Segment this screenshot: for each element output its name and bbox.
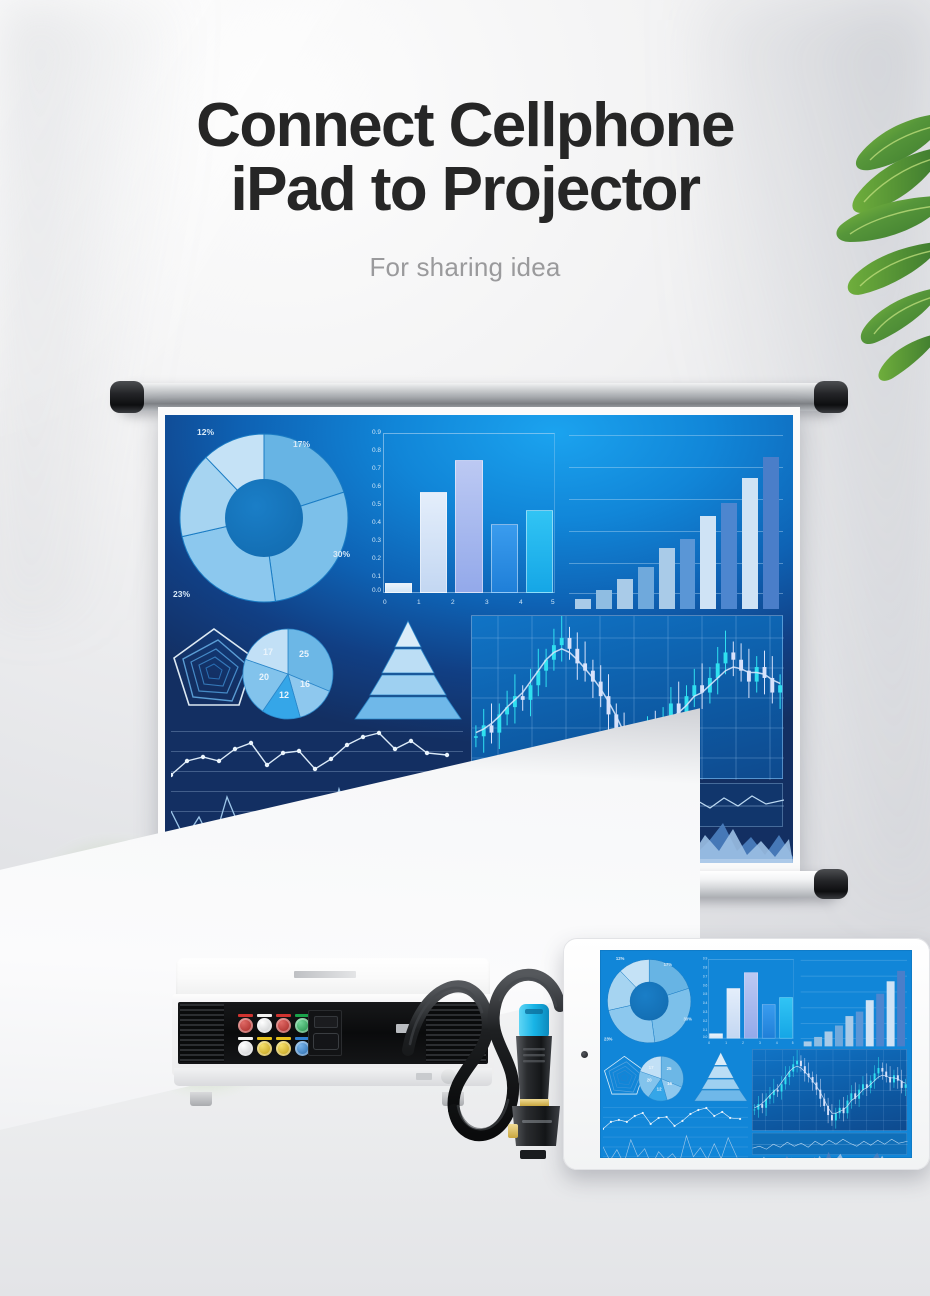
tablet-dashboard-content: 12% 17% 30% 23% 0.9 0.8 0.7 0.6 0.5 0.4 … (600, 950, 912, 1158)
pie-label-17: 17 (263, 647, 273, 657)
bar-ytick-8: 0.8 (361, 447, 381, 454)
rca-port-video[interactable] (238, 1037, 253, 1056)
bar-xtick-0: 0 (708, 1041, 710, 1044)
rca-port-group[interactable] (238, 1014, 310, 1056)
pie-label-20: 20 (259, 672, 269, 682)
rail-end-cap-right (814, 381, 848, 413)
asc-bar-1 (814, 1037, 822, 1047)
bar-ytick-8: 0.8 (697, 966, 707, 969)
donut-label-0: 12% (616, 956, 624, 961)
rca-port-l[interactable] (257, 1014, 272, 1033)
bar-xtick-5: 5 (792, 1041, 794, 1044)
donut-label-1: 17% (664, 962, 672, 967)
asc-bar-3 (638, 567, 654, 609)
donut-label-3: 23% (604, 1036, 612, 1041)
rca-port-audio-l[interactable] (257, 1037, 272, 1056)
bar-xtick-2: 2 (742, 1041, 744, 1044)
power-switch[interactable] (314, 1016, 338, 1028)
bar-ytick-5: 0.5 (361, 501, 381, 508)
projector-foot-left (190, 1092, 212, 1106)
small-pie-chart: 25 16 12 20 17 (241, 627, 335, 721)
rca-port-audio-r[interactable] (276, 1037, 291, 1056)
asc-bar-8 (742, 478, 758, 609)
bar-3 (762, 1004, 776, 1038)
rca-port-r[interactable] (276, 1014, 291, 1033)
donut-label-2: 30% (683, 1017, 691, 1022)
asc-bar-9 (763, 457, 779, 609)
scene: Connect Cellphone iPad to Projector For … (0, 0, 930, 1296)
bar-ytick-7: 0.7 (697, 975, 707, 978)
bar-1 (727, 988, 741, 1038)
rca-port-pr[interactable] (238, 1014, 253, 1033)
bar-0 (385, 583, 412, 593)
bar-xtick-2: 2 (451, 599, 455, 606)
asc-bar-4 (659, 548, 675, 609)
mountain-area-chart (752, 1147, 912, 1158)
donut-hole (225, 479, 303, 557)
front-camera-icon (581, 1051, 588, 1058)
ascending-bar-chart (801, 959, 907, 1046)
pyramid-chart (692, 1051, 749, 1103)
asc-bar-2 (617, 579, 633, 609)
bar-ytick-7: 0.7 (361, 465, 381, 472)
pie-label-20: 20 (647, 1078, 652, 1083)
bar-xtick-1: 1 (725, 1041, 727, 1044)
bottom-rail-end-cap-right (814, 869, 848, 899)
donut-label-0: 12% (197, 427, 214, 437)
bar-3 (491, 524, 518, 593)
bar-xtick-5: 5 (551, 599, 555, 606)
asc-bars (804, 967, 905, 1046)
bar-4 (526, 510, 553, 593)
vent-left (180, 1004, 224, 1062)
pie-label-17: 17 (649, 1065, 654, 1070)
bar-ytick-3: 0.3 (697, 1011, 707, 1014)
marker-line-points (171, 731, 449, 777)
bar-ytick-3: 0.3 (361, 537, 381, 544)
asc-bar-5 (680, 539, 696, 609)
bar-2 (455, 460, 482, 593)
donut-hole (630, 982, 669, 1021)
bar-ytick-1: 0.1 (697, 1028, 707, 1031)
projector-brand-logo (294, 971, 356, 978)
pie-label-25: 25 (667, 1066, 672, 1071)
bar-ytick-6: 0.6 (697, 984, 707, 987)
bar-ytick-2: 0.2 (361, 555, 381, 562)
asc-bar-4 (845, 1016, 853, 1046)
tablet-device[interactable]: 12% 17% 30% 23% 0.9 0.8 0.7 0.6 0.5 0.4 … (563, 938, 930, 1170)
small-pie-chart: 25 16 12 20 17 (638, 1055, 685, 1102)
bar-xtick-4: 4 (776, 1041, 778, 1044)
bar-ytick-4: 0.4 (697, 1002, 707, 1005)
asc-bar-7 (876, 994, 884, 1046)
bar-ytick-9: 0.9 (361, 429, 381, 436)
hdmi-connector-plug (506, 1000, 568, 1160)
donut-label-1: 17% (293, 439, 310, 449)
bar-xtick-3: 3 (485, 599, 489, 606)
rail-end-cap-left (110, 381, 144, 413)
marker-line-path (603, 1108, 740, 1129)
marker-line-points (603, 1107, 741, 1130)
asc-bar-5 (856, 1011, 864, 1046)
donut-chart: 12% 17% 30% 23% (605, 957, 693, 1045)
bar-chart-bars (709, 959, 792, 1038)
bar-xtick-4: 4 (519, 599, 523, 606)
pie-label-12: 12 (279, 690, 289, 700)
donut-chart: 12% 17% 30% 23% (175, 429, 353, 607)
asc-bar-2 (824, 1031, 832, 1046)
pie-label-16: 16 (300, 679, 310, 689)
bar-chart-bars (385, 433, 553, 593)
asc-bar-3 (835, 1026, 843, 1047)
bar-1 (420, 492, 447, 593)
asc-bar-7 (721, 503, 737, 609)
bar-ytick-2: 0.2 (697, 1020, 707, 1023)
bar-xtick-1: 1 (417, 599, 421, 606)
tablet-screen[interactable]: 12% 17% 30% 23% 0.9 0.8 0.7 0.6 0.5 0.4 … (600, 950, 912, 1158)
pie-label-12: 12 (657, 1087, 662, 1092)
bar-xtick-0: 0 (383, 599, 387, 606)
asc-bar-0 (575, 599, 591, 609)
bar-ytick-4: 0.4 (361, 519, 381, 526)
headline-line-1: Connect Cellphone (196, 91, 734, 160)
power-inlet-group[interactable] (308, 1010, 342, 1056)
main-bar-chart: 0.9 0.8 0.7 0.6 0.5 0.4 0.3 0.2 0.1 0.0 (697, 957, 796, 1046)
donut-label-3: 23% (173, 589, 190, 599)
pyramid-chart (351, 619, 465, 723)
asc-bars (575, 449, 779, 609)
bar-ytick-5: 0.5 (697, 993, 707, 996)
marker-line-path (171, 733, 447, 775)
asc-bar-9 (897, 971, 905, 1047)
page-subtitle: For sharing idea (0, 252, 930, 283)
bar-ytick-6: 0.6 (361, 483, 381, 490)
ac-power-socket[interactable] (313, 1033, 339, 1050)
bar-ytick-0: 0.0 (697, 1035, 707, 1038)
asc-bar-0 (804, 1042, 812, 1047)
bar-4 (779, 997, 793, 1038)
bar-xtick-3: 3 (759, 1041, 761, 1044)
line-charts-group (603, 1105, 748, 1158)
donut-label-2: 30% (333, 549, 350, 559)
asc-bar-6 (700, 516, 716, 609)
bar-0 (709, 1034, 723, 1039)
asc-bar-6 (866, 1000, 874, 1046)
bar-ytick-9: 0.9 (697, 957, 707, 960)
main-bar-chart: 0.9 0.8 0.7 0.6 0.5 0.4 0.3 0.2 0.1 0.0 (361, 429, 561, 609)
asc-bar-1 (596, 590, 612, 609)
asc-gridline-0 (569, 435, 783, 436)
asc-bar-8 (887, 981, 895, 1046)
bar-2 (744, 972, 758, 1038)
bar-ytick-1: 0.1 (361, 573, 381, 580)
bar-ytick-0: 0.0 (361, 587, 381, 594)
pie-label-16: 16 (667, 1081, 672, 1086)
ascending-bar-chart (569, 433, 783, 609)
zigzag-line-path (603, 1136, 737, 1158)
page-title: Connect Cellphone iPad to Projector (0, 94, 930, 223)
pie-label-25: 25 (299, 649, 309, 659)
candlestick-chart (752, 1049, 907, 1130)
headline-line-2: iPad to Projector (0, 158, 930, 222)
